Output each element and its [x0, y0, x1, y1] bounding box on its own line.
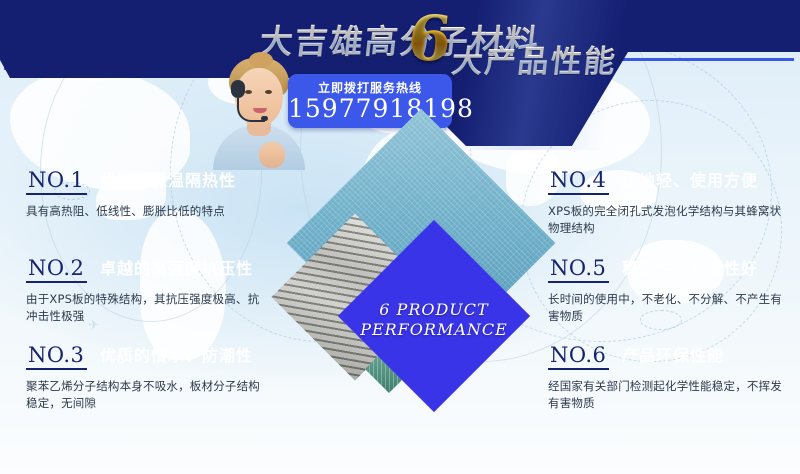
feature-5-header: NO.5 稳定性、防腐性好 — [548, 256, 798, 286]
badge-line-1: 6 PRODUCT — [346, 300, 522, 320]
feature-3-description: 聚苯乙烯分子结构本身不吸水，板材分子结构稳定，无间隙 — [26, 378, 266, 412]
feature-6-title: 产品环保性能 — [608, 342, 736, 369]
badge-line-2: PERFORMANCE — [346, 320, 522, 340]
feature-6-description: 经国家有关部门检测起化学性能稳定，不挥发有害物质 — [548, 378, 788, 412]
feature-2-title: 卓越的高强度抗压性 — [86, 255, 265, 282]
title-number-six: 6 — [405, 8, 454, 70]
feature-4-title: 质地轻、使用方便 — [608, 167, 770, 194]
feature-6-number: NO.6 — [548, 343, 609, 370]
agent-hair-bun — [249, 52, 273, 68]
feature-3-header: NO.3 优质的憎水、防潮性 — [26, 343, 276, 373]
feature-2-header: NO.2 卓越的高强度抗压性 — [26, 256, 276, 286]
headset-icon — [231, 80, 245, 98]
promo-banner: ✈ ✈ 大吉雄高分子材料 6 大产品性能 立即拨打服务热线 1597791819… — [0, 0, 800, 474]
header-title-row: 大吉雄高分子材料 — [0, 4, 800, 74]
microphone-icon — [261, 116, 268, 121]
feature-4-description: XPS板的完全闭孔式发泡化学结构与其蜂窝状物理结构 — [548, 203, 788, 237]
feature-3-number: NO.3 — [26, 343, 87, 370]
feature-6-header: NO.6 产品环保性能 — [548, 343, 798, 373]
feature-1-number: NO.1 — [26, 168, 87, 195]
feature-1-title: 优良的保温隔热性 — [86, 167, 248, 194]
feature-5-title: 稳定性、防腐性好 — [608, 255, 770, 282]
feature-item-6[interactable]: NO.6 产品环保性能 经国家有关部门检测起化学性能稳定，不挥发有害物质 — [548, 343, 798, 412]
title-suffix: 大产品性能 — [450, 36, 620, 81]
feature-item-3[interactable]: NO.3 优质的憎水、防潮性 聚苯乙烯分子结构本身不吸水，板材分子结构稳定，无间… — [26, 343, 276, 412]
feature-item-2[interactable]: NO.2 卓越的高强度抗压性 由于XPS板的特殊结构，其抗压强度极高、抗冲击性极… — [26, 256, 276, 325]
centre-diamond-graphic: 6 PRODUCT PERFORMANCE — [290, 140, 552, 430]
diamond-badge-text: 6 PRODUCT PERFORMANCE — [346, 300, 522, 340]
feature-1-description: 具有高热阻、低线性、膨胀比低的特点 — [26, 203, 266, 220]
feature-3-title: 优质的憎水、防潮性 — [86, 342, 265, 369]
feature-4-number: NO.4 — [548, 168, 609, 195]
feature-item-1[interactable]: NO.1 优良的保温隔热性 具有高热阻、低线性、膨胀比低的特点 — [26, 168, 276, 220]
feature-item-5[interactable]: NO.5 稳定性、防腐性好 长时间的使用中，不老化、不分解、不产生有害物质 — [548, 256, 798, 325]
feature-5-description: 长时间的使用中，不老化、不分解、不产生有害物质 — [548, 291, 788, 325]
feature-2-description: 由于XPS板的特殊结构，其抗压强度极高、抗冲击性极强 — [26, 291, 266, 325]
agent-hand — [259, 142, 285, 168]
feature-2-number: NO.2 — [26, 256, 87, 283]
feature-item-4[interactable]: NO.4 质地轻、使用方便 XPS板的完全闭孔式发泡化学结构与其蜂窝状物理结构 — [548, 168, 798, 237]
feature-5-number: NO.5 — [548, 256, 609, 283]
feature-1-header: NO.1 优良的保温隔热性 — [26, 168, 276, 198]
agent-eye-right — [265, 90, 272, 94]
agent-eye-left — [245, 90, 252, 94]
feature-4-header: NO.4 质地轻、使用方便 — [548, 168, 798, 198]
